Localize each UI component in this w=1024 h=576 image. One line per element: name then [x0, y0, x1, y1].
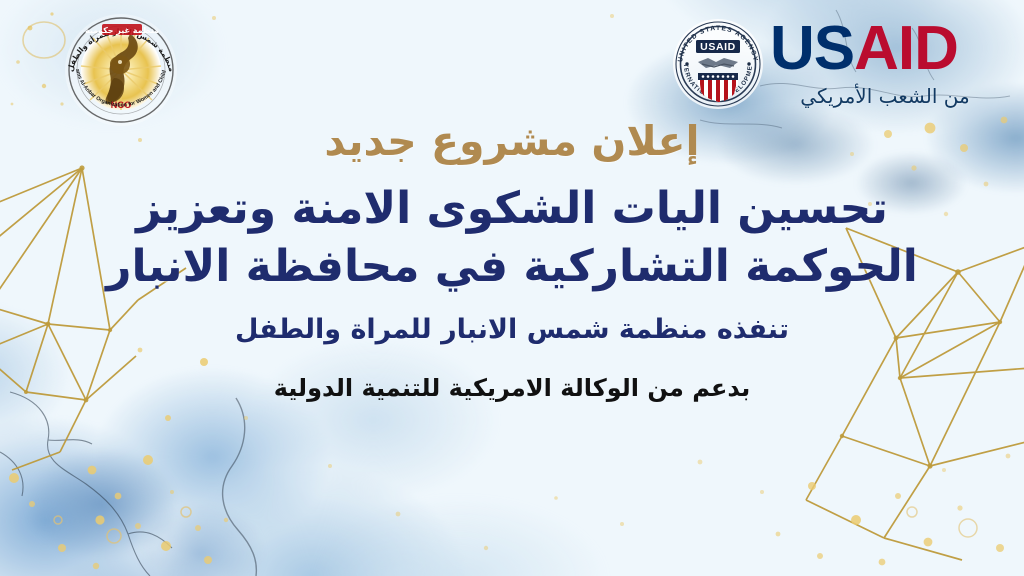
poster-implementer: تنفذه منظمة شمس الانبار للمراة والطفل — [0, 312, 1024, 348]
poster-title: تحسين اليات الشكوى الامنة وتعزيز الحوكمة… — [0, 180, 1024, 296]
usaid-logo-block: UNITED STATES AGENCY INTERNATIONAL DEVEL… — [672, 12, 1002, 116]
usaid-seal-icon: UNITED STATES AGENCY INTERNATIONAL DEVEL… — [672, 18, 764, 110]
poster-canvas: منظمة شمس الأنبار للمرأة والطفل منظمة غي… — [0, 0, 1024, 576]
poster-eyebrow: إعلان مشروع جديد — [0, 112, 1024, 170]
usaid-wordmark-us: US — [770, 14, 854, 83]
shams-ngo-badge-arabic: منظمة غير حكومية — [85, 26, 159, 35]
usaid-wordmark: USAID — [770, 18, 958, 80]
poster-text-block: إعلان مشروع جديد تحسين اليات الشكوى الام… — [0, 112, 1024, 404]
usaid-seal-center-text: USAID — [700, 41, 736, 53]
usaid-tagline: من الشعب الأمريكي — [776, 84, 994, 108]
poster-title-line-1: تحسين اليات الشكوى الامنة وتعزيز — [0, 180, 1024, 238]
poster-title-line-2: الحوكمة التشاركية في محافظة الانبار — [0, 238, 1024, 296]
poster-funder: بدعم من الوكالة الامريكية للتنمية الدولي… — [0, 372, 1024, 404]
usaid-wordmark-aid: AID — [854, 14, 958, 83]
watercolor-wash-bottom-center — [250, 466, 670, 576]
